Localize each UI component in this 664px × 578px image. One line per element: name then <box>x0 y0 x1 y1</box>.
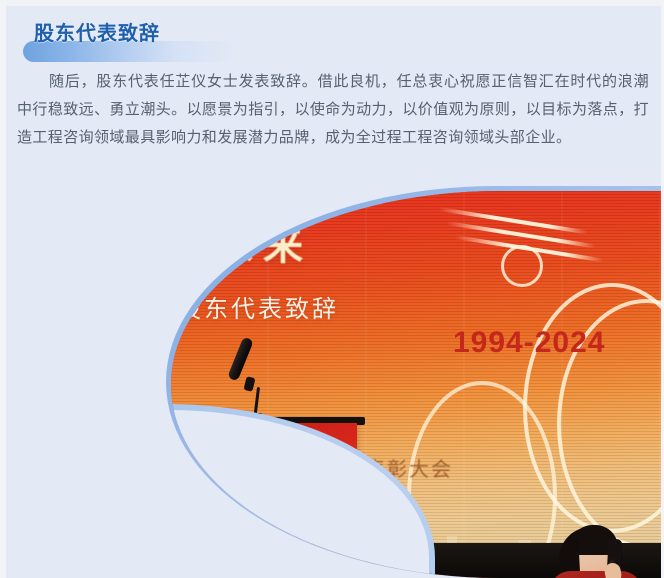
section-heading: 股东代表致辞 <box>23 20 323 62</box>
led-years-text: 1994-2024 <box>453 326 605 360</box>
body-paragraph: 随后，股东代表任芷仪女士发表致辞。借此良机，任总衷心祝愿正信智汇在时代的浪潮中行… <box>17 68 649 152</box>
page-top-margin <box>0 0 664 6</box>
page-title: 股东代表致辞 <box>34 20 160 48</box>
article-page: 股东代表致辞 随后，股东代表任芷仪女士发表致辞。借此良机，任总衷心祝愿正信智汇在… <box>0 0 664 578</box>
speaker-sweater <box>549 571 643 578</box>
event-photo: 跑未来 股东代表致辞 1994-2024 30周 总结表彰大会 正信智汇 30周… <box>166 186 661 578</box>
led-headline-text: 跑未来 <box>171 213 313 271</box>
led-subheadline-text: 股东代表致辞 <box>177 289 339 324</box>
page-left-margin <box>0 0 6 578</box>
decor-circle-icon <box>501 245 543 287</box>
photo-image: 跑未来 股东代表致辞 1994-2024 30周 总结表彰大会 正信智汇 30周… <box>171 191 661 578</box>
